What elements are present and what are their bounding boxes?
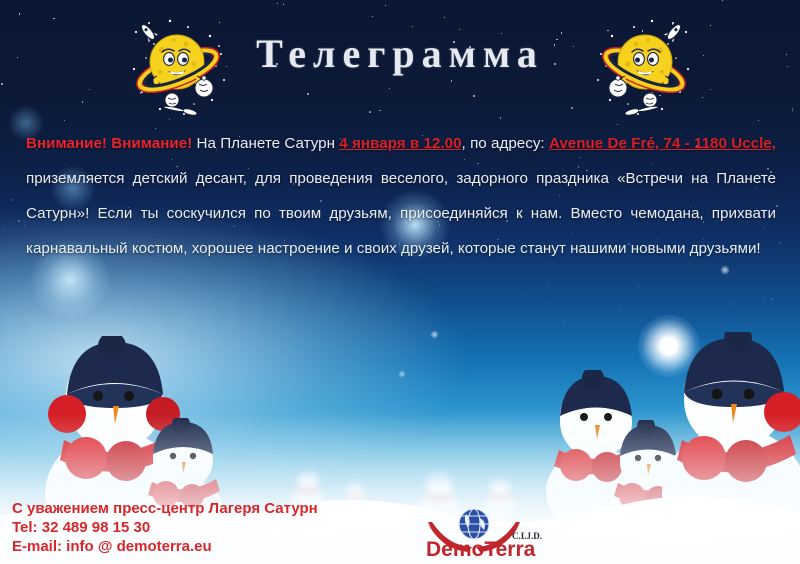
page-title: Телеграмма [0, 30, 800, 77]
attention-text: Внимание! Внимание! [26, 135, 192, 152]
footer-email: E-mail: info @ demoterra.eu [12, 537, 318, 556]
body-segment-2: , по адресу: [462, 135, 549, 152]
contact-footer: С уважением пресс-центр Лагеря Сатурн Te… [12, 499, 318, 556]
body-segment-1: На Планете Сатурн [192, 135, 339, 152]
telegram-poster: Телеграмма Внимание! Внимание! На Планет… [0, 0, 800, 564]
body-segment-3: приземляется детский десант, для проведе… [26, 170, 776, 257]
event-address: Avenue De Fré, 74 - 1180 Uccle, [549, 135, 776, 152]
footer-signature: С уважением пресс-центр Лагеря Сатурн [12, 499, 318, 518]
footer-phone: Tel: 32 489 98 15 30 [12, 518, 318, 537]
demoterra-logo: C.I.J.D. DemoTerra [424, 506, 552, 558]
announcement-body: Внимание! Внимание! На Планете Сатурн 4 … [26, 126, 776, 266]
logo-wordmark: DemoTerra [426, 538, 536, 558]
event-datetime: 4 января в 12.00 [339, 135, 461, 152]
